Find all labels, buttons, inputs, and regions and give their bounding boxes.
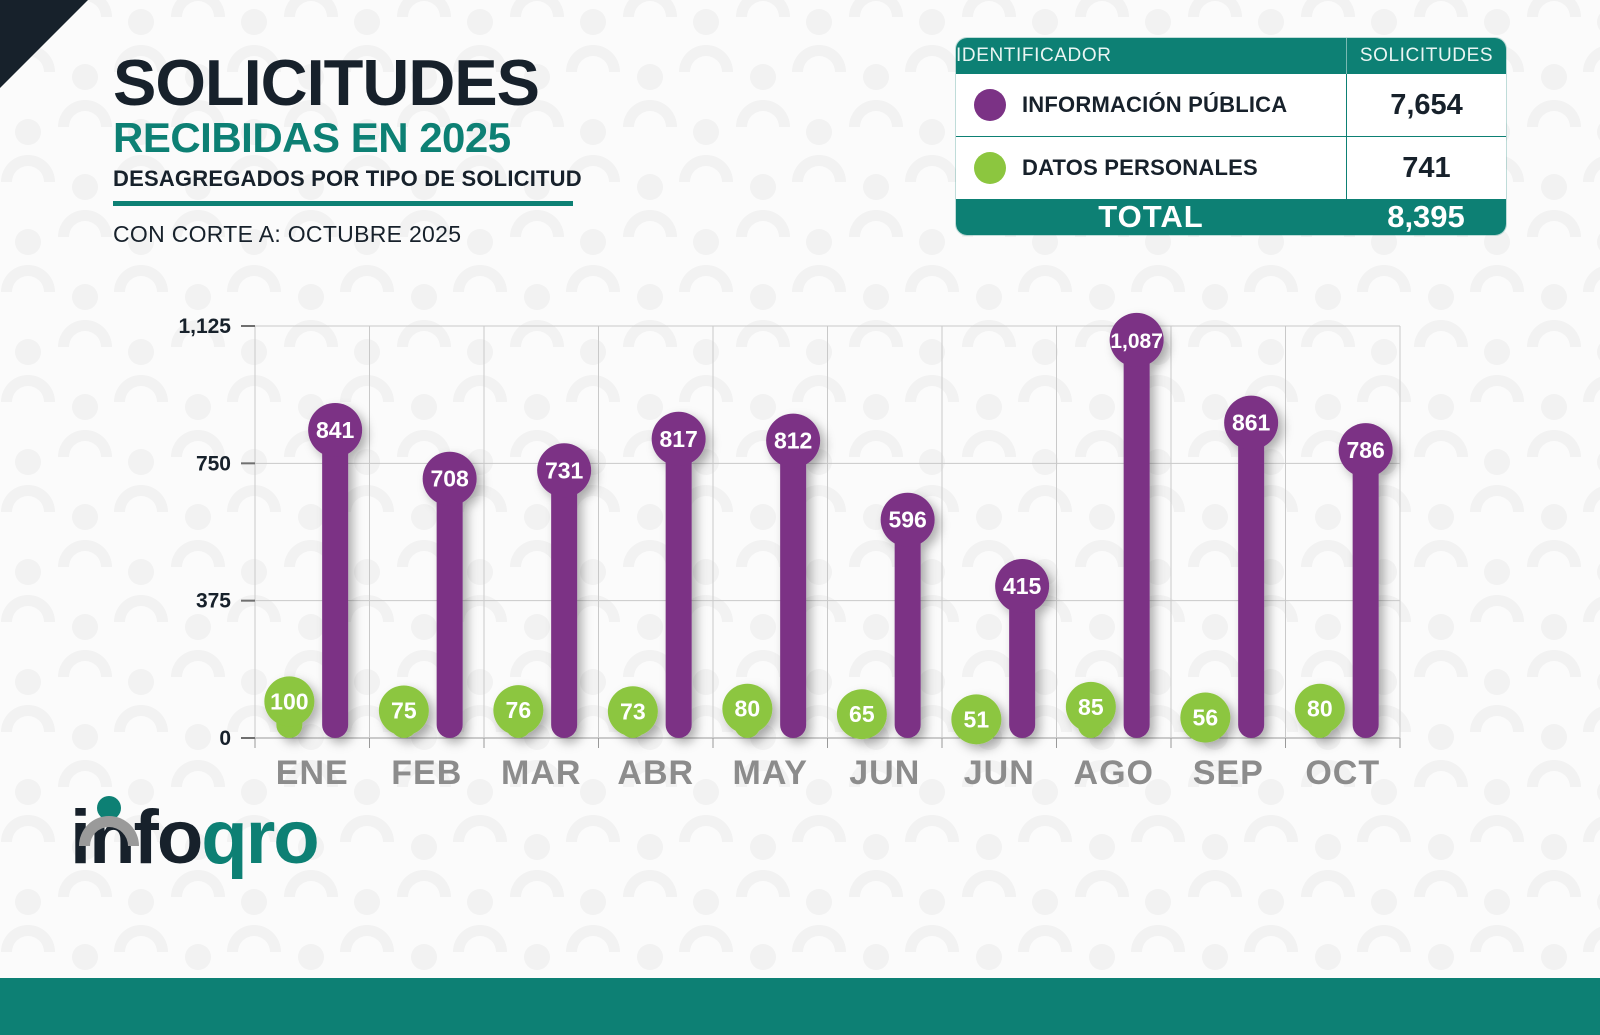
total-value: 8,395 [1346,199,1506,235]
x-axis-month-label: FEB [391,754,462,792]
title-divider [113,201,573,206]
chart-y-axis: 03757501,125 [178,315,255,750]
data-label: 76 [506,697,532,723]
person-icon [74,794,144,850]
legend-value: 741 [1346,137,1506,199]
column-header-identifier: IDENTIFICADOR [956,38,1346,74]
lollipop-chart: 03757501,125 100841757087673173817808126… [0,300,1600,800]
data-label: 812 [774,428,812,454]
lollipop-marker [1224,396,1278,738]
legend-item-datos-personales: DATOS PERSONALES [956,137,1346,199]
data-label: 85 [1078,694,1104,720]
chart-series-group: 100841757087673173817808126559651415851,… [264,313,1392,744]
table-header-row: IDENTIFICADOR SOLICITUDES [956,38,1506,74]
x-axis-month-label: MAY [733,754,808,792]
data-label: 817 [659,426,697,452]
corner-accent-triangle [0,0,88,88]
logo-text-qro: qro [201,795,317,880]
page-title-block: SOLICITUDES RECIBIDAS EN 2025 DESAGREGAD… [113,52,582,248]
lollipop-marker [537,443,591,738]
data-label: 56 [1193,704,1219,730]
data-label: 100 [270,688,308,714]
data-label: 65 [849,701,875,727]
lollipop-marker [1110,313,1164,738]
data-label: 786 [1346,437,1384,463]
x-axis-month-label: MAR [501,754,581,792]
chart-canvas: 03757501,125 100841757087673173817808126… [0,300,1600,800]
x-axis-month-label: JUN [849,754,920,792]
summary-table: IDENTIFICADOR SOLICITUDES INFORMACIÓN PÚ… [956,38,1506,235]
page-title-detail: DESAGREGADOS POR TIPO DE SOLICITUD [113,166,582,192]
lollipop-marker [652,412,706,738]
page-title: SOLICITUDES [113,52,582,114]
page-subtitle: RECIBIDAS EN 2025 [113,116,582,160]
total-label: TOTAL [956,199,1346,235]
x-axis-month-label: SEP [1193,754,1264,792]
infoqro-logo: infoqro [70,800,318,876]
table-total-row: TOTAL 8,395 [956,199,1506,235]
data-label: 708 [430,466,469,492]
lollipop-marker [1339,423,1393,738]
table-row: INFORMACIÓN PÚBLICA 7,654 [956,74,1506,136]
y-tick-label: 1,125 [178,315,231,338]
data-label: 841 [316,417,355,443]
data-label: 80 [735,696,761,722]
legend-label: INFORMACIÓN PÚBLICA [1022,92,1287,118]
y-tick-label: 375 [196,590,231,613]
y-tick-label: 750 [196,452,231,475]
page-cutoff-date: CON CORTE A: OCTUBRE 2025 [113,221,582,248]
legend-label: DATOS PERSONALES [1022,155,1258,181]
x-axis-month-label: AGO [1074,754,1154,792]
x-axis-month-label: ABR [617,754,694,792]
data-label: 75 [391,698,417,724]
data-label: 596 [888,507,926,533]
x-axis-month-label: JUN [964,754,1035,792]
chart-x-axis-labels: ENEFEBMARABRMAYJUNJUNAGOSEPOCT [276,754,1380,792]
data-label: 415 [1003,573,1042,599]
legend-value: 7,654 [1346,74,1506,136]
data-label: 861 [1232,410,1271,436]
y-tick-label: 0 [219,727,231,750]
x-axis-month-label: ENE [276,754,349,792]
lollipop-marker [423,452,477,738]
legend-dot-purple-icon [974,89,1006,121]
lollipop-marker [766,414,820,738]
legend-item-informacion-publica: INFORMACIÓN PÚBLICA [956,74,1346,136]
data-label: 731 [545,457,584,483]
data-label: 73 [620,698,646,724]
x-axis-month-label: OCT [1305,754,1380,792]
column-header-requests: SOLICITUDES [1346,38,1506,74]
table-row: DATOS PERSONALES 741 [956,136,1506,199]
legend-dot-green-icon [974,152,1006,184]
data-label: 1,087 [1110,330,1163,353]
chart-gridlines [255,326,1400,748]
data-label: 51 [964,706,990,732]
footer-bar [0,978,1600,1035]
data-label: 80 [1307,696,1333,722]
lollipop-marker [308,403,362,738]
